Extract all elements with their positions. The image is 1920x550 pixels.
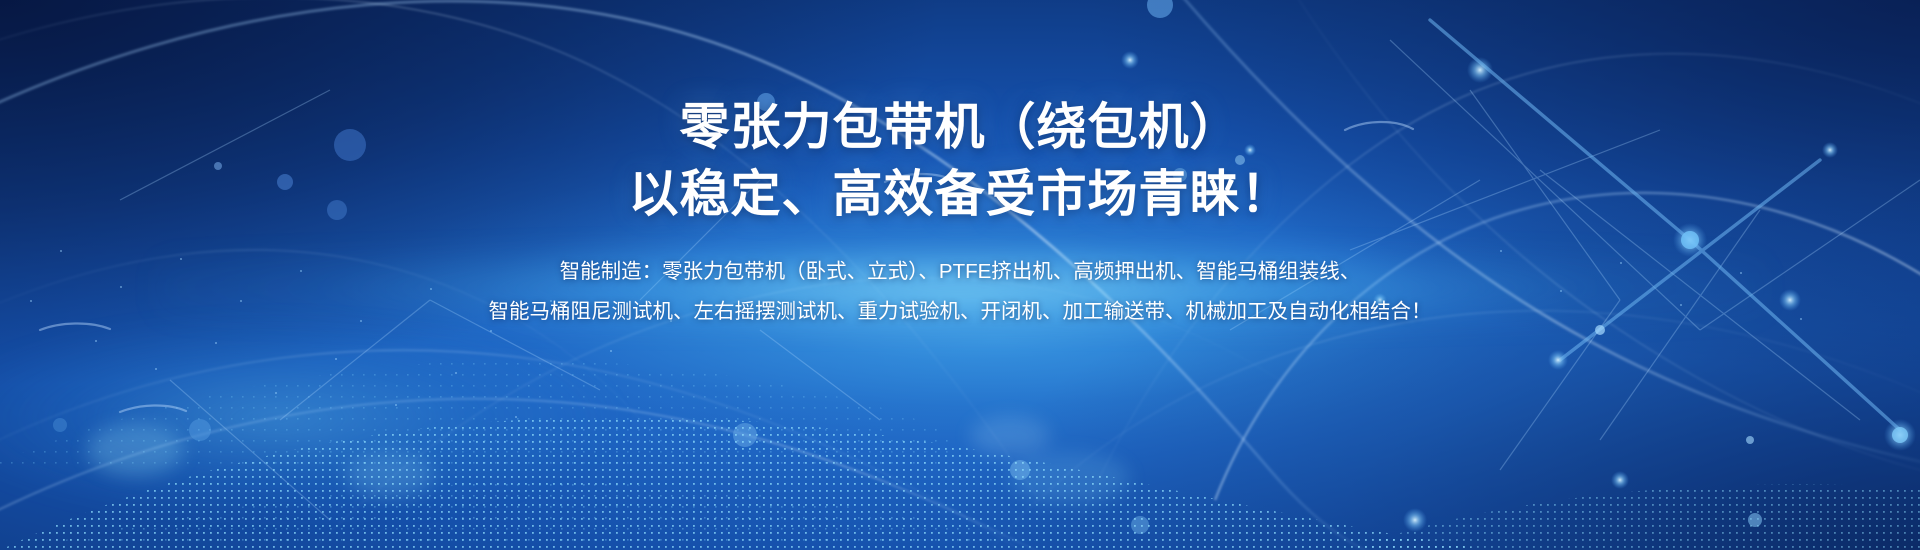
banner-content: 零张力包带机（绕包机） 以稳定、高效备受市场青睐！ 智能制造：零张力包带机（卧式… (0, 0, 1920, 550)
banner-subtitle: 智能制造：零张力包带机（卧式、立式）、PTFE挤出机、高频押出机、智能马桶组装线… (489, 252, 1432, 332)
banner-subtitle-line2: 智能马桶阻尼测试机、左右摇摆测试机、重力试验机、开闭机、加工输送带、机械加工及自… (489, 292, 1432, 332)
banner-subtitle-line1: 智能制造：零张力包带机（卧式、立式）、PTFE挤出机、高频押出机、智能马桶组装线… (489, 252, 1432, 292)
promo-banner: 零张力包带机（绕包机） 以稳定、高效备受市场青睐！ 智能制造：零张力包带机（卧式… (0, 0, 1920, 550)
banner-title-line2: 以稳定、高效备受市场青睐！ (629, 163, 1292, 226)
banner-title-line1: 零张力包带机（绕包机） (680, 96, 1241, 159)
